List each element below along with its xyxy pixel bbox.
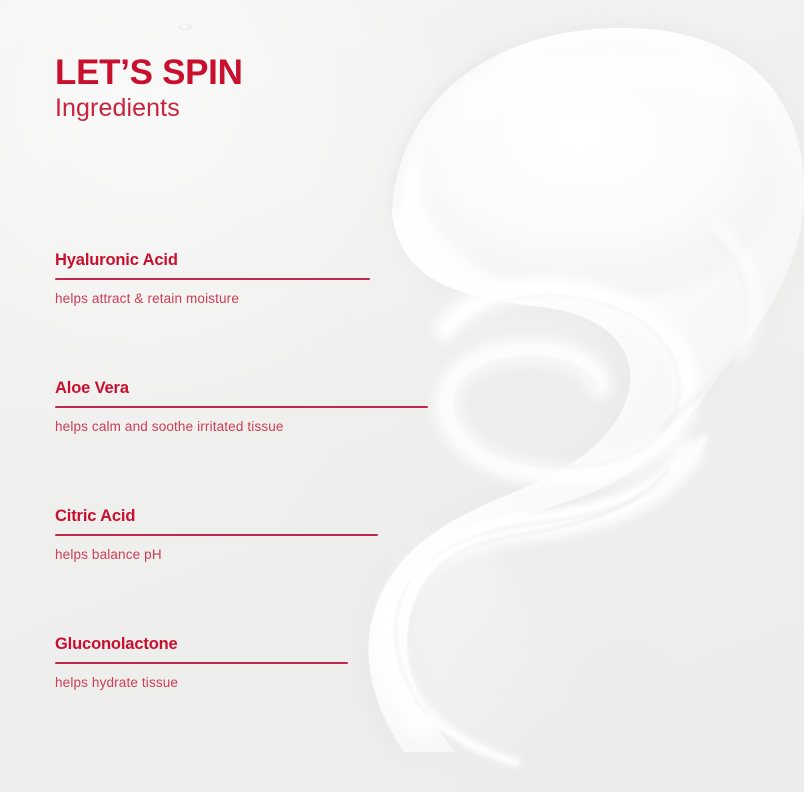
ingredient-divider xyxy=(55,406,428,408)
ingredient-divider xyxy=(55,662,348,664)
ingredients-list: Hyaluronic Acid helps attract & retain m… xyxy=(55,251,475,691)
ingredient-name: Hyaluronic Acid xyxy=(55,251,475,270)
ingredient-item: Aloe Vera helps calm and soothe irritate… xyxy=(55,379,475,436)
ingredient-item: Gluconolactone helps hydrate tissue xyxy=(55,635,475,692)
content-column: LET’S SPIN Ingredients Hyaluronic Acid h… xyxy=(0,0,804,792)
ingredient-description: helps balance pH xyxy=(55,547,475,564)
ingredient-divider xyxy=(55,278,370,280)
ingredient-item: Hyaluronic Acid helps attract & retain m… xyxy=(55,251,475,308)
ingredient-description: helps calm and soothe irritated tissue xyxy=(55,419,475,436)
ingredient-name: Gluconolactone xyxy=(55,635,475,654)
ingredient-name: Citric Acid xyxy=(55,507,475,526)
page-subtitle: Ingredients xyxy=(55,94,243,124)
ingredient-name: Aloe Vera xyxy=(55,379,475,398)
ingredient-divider xyxy=(55,534,378,536)
page-title: LET’S SPIN Ingredients xyxy=(55,54,243,124)
ingredient-description: helps hydrate tissue xyxy=(55,675,475,692)
ingredient-item: Citric Acid helps balance pH xyxy=(55,507,475,564)
ingredient-description: helps attract & retain moisture xyxy=(55,291,475,308)
ingredients-poster: LET’S SPIN Ingredients Hyaluronic Acid h… xyxy=(0,0,804,792)
brand-title: LET’S SPIN xyxy=(55,54,243,91)
